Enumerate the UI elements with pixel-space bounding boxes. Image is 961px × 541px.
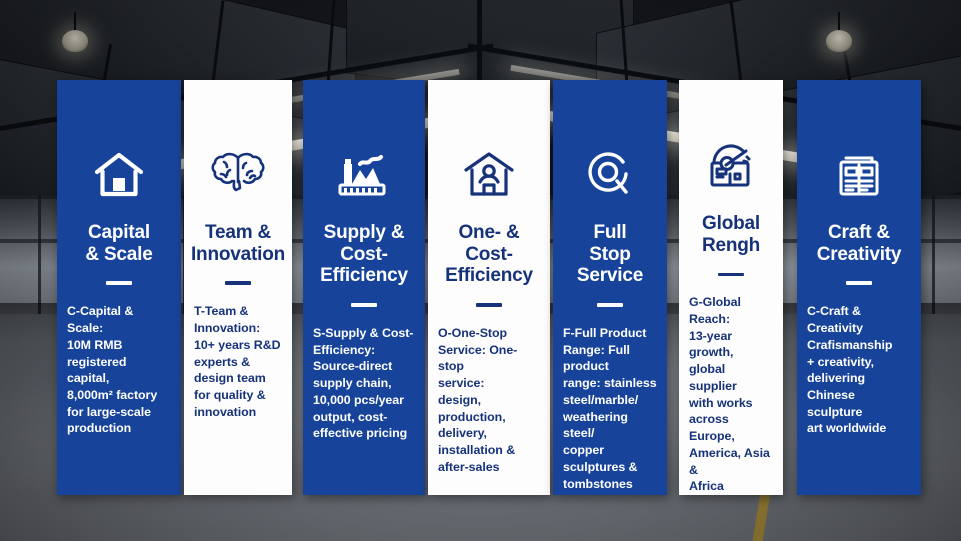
panel-description: T-Team & Innovation: 10+ years R&D exper… xyxy=(194,303,282,420)
panel-team-innovation[interactable]: Team & Innovation T-Team & Innovation: 1… xyxy=(184,80,292,495)
title-divider xyxy=(106,281,132,285)
house-person-icon xyxy=(462,136,516,198)
panel-title: Global Rengh xyxy=(702,213,760,256)
panel-global-rengh[interactable]: Global Rengh G-Global Reach: 13-year gro… xyxy=(679,80,783,495)
panel-description: C-Craft & Creativity Crafismanship + cre… xyxy=(807,303,911,437)
panel-description: C-Capital & Scale: 10M RMB registered ca… xyxy=(67,303,171,437)
title-divider xyxy=(476,303,502,307)
panel-description: F-Full Product Range: Full product range… xyxy=(563,325,657,492)
title-divider xyxy=(597,303,623,307)
panel-title: Full Stop Service xyxy=(563,222,657,287)
globe-map-icon xyxy=(704,136,758,189)
panel-capital-scale[interactable]: Capital & Scale C-Capital & Scale: 10M R… xyxy=(57,80,181,495)
panel-title: Capital & Scale xyxy=(85,222,152,265)
title-divider xyxy=(718,273,744,276)
house-icon xyxy=(93,136,145,198)
title-divider xyxy=(225,281,251,285)
search-circle-icon xyxy=(585,136,635,198)
feature-panel-group: Capital & Scale C-Capital & Scale: 10M R… xyxy=(0,0,961,541)
factory-icon xyxy=(334,136,394,198)
panel-description: G-Global Reach: 13-year growth, global s… xyxy=(689,294,773,495)
title-divider xyxy=(846,281,872,285)
panel-title: Team & Innovation xyxy=(191,222,285,265)
panel-description: O-One-Stop Service: One-stop service: de… xyxy=(438,325,540,476)
title-divider xyxy=(351,303,377,307)
panel-title: One- & Cost-Efficiency xyxy=(438,222,540,287)
panel-full-stop-service[interactable]: Full Stop Service F-Full Product Range: … xyxy=(553,80,667,495)
panel-supply-cost-efficiency[interactable]: Supply & Cost-Efficiency S-Supply & Cost… xyxy=(303,80,425,495)
panel-craft-creativity[interactable]: Craft & Creativity C-Craft & Creativity … xyxy=(797,80,921,495)
newspaper-icon xyxy=(834,136,884,198)
panel-description: S-Supply & Cost- Efficiency: Source-dire… xyxy=(313,325,415,442)
panel-one-cost-efficiency[interactable]: One- & Cost-Efficiency O-One-Stop Servic… xyxy=(428,80,550,495)
brain-icon xyxy=(210,136,266,198)
panel-title: Craft & Creativity xyxy=(817,222,902,265)
panel-title: Supply & Cost-Efficiency xyxy=(313,222,415,287)
